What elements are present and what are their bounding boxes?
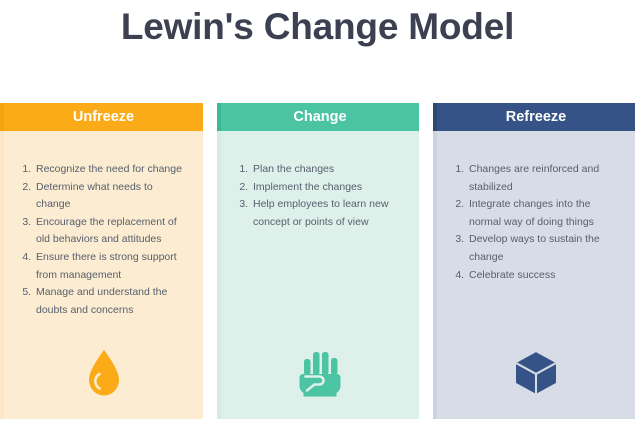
column-header-label: Refreeze (506, 109, 566, 125)
list-item: Manage and understand the doubts and con… (34, 284, 189, 319)
icon-holder-change (221, 347, 419, 397)
change-model-columns: Unfreeze Recognize the need for change D… (0, 103, 635, 419)
list-item: Implement the changes (251, 179, 405, 197)
column-body-change: Plan the changes Implement the changes H… (217, 131, 419, 419)
icon-holder-unfreeze (4, 347, 203, 397)
column-unfreeze: Unfreeze Recognize the need for change D… (0, 103, 203, 419)
column-header-label: Change (293, 109, 346, 125)
list-item: Help employees to learn new concept or p… (251, 196, 405, 231)
column-header-refreeze: Refreeze (433, 103, 635, 131)
list-item: Celebrate success (467, 267, 621, 285)
melting-droplet-icon (86, 349, 122, 397)
column-header-change: Change (217, 103, 419, 131)
column-header-unfreeze: Unfreeze (0, 103, 203, 131)
list-item: Recognize the need for change (34, 161, 189, 179)
list-item: Changes are reinforced and stabilized (467, 161, 621, 196)
list-item: Determine what needs to change (34, 179, 189, 214)
column-header-label: Unfreeze (73, 109, 134, 125)
list-item: Ensure there is strong support from mana… (34, 249, 189, 284)
isometric-cube-icon (513, 349, 559, 397)
list-item: Plan the changes (251, 161, 405, 179)
column-refreeze: Refreeze Changes are reinforced and stab… (433, 103, 635, 419)
list-item: Integrate changes into the normal way of… (467, 196, 621, 231)
list-item: Encourage the replacement of old behavio… (34, 214, 189, 249)
step-list-refreeze: Changes are reinforced and stabilized In… (437, 131, 635, 284)
column-body-refreeze: Changes are reinforced and stabilized In… (433, 131, 635, 419)
icon-holder-refreeze (437, 347, 635, 397)
page-title: Lewin's Change Model (0, 6, 635, 48)
step-list-unfreeze: Recognize the need for change Determine … (4, 131, 203, 319)
raised-fist-icon (299, 349, 341, 397)
column-change: Change Plan the changes Implement the ch… (217, 103, 419, 419)
step-list-change: Plan the changes Implement the changes H… (221, 131, 419, 231)
column-body-unfreeze: Recognize the need for change Determine … (0, 131, 203, 419)
list-item: Develop ways to sustain the change (467, 231, 621, 266)
